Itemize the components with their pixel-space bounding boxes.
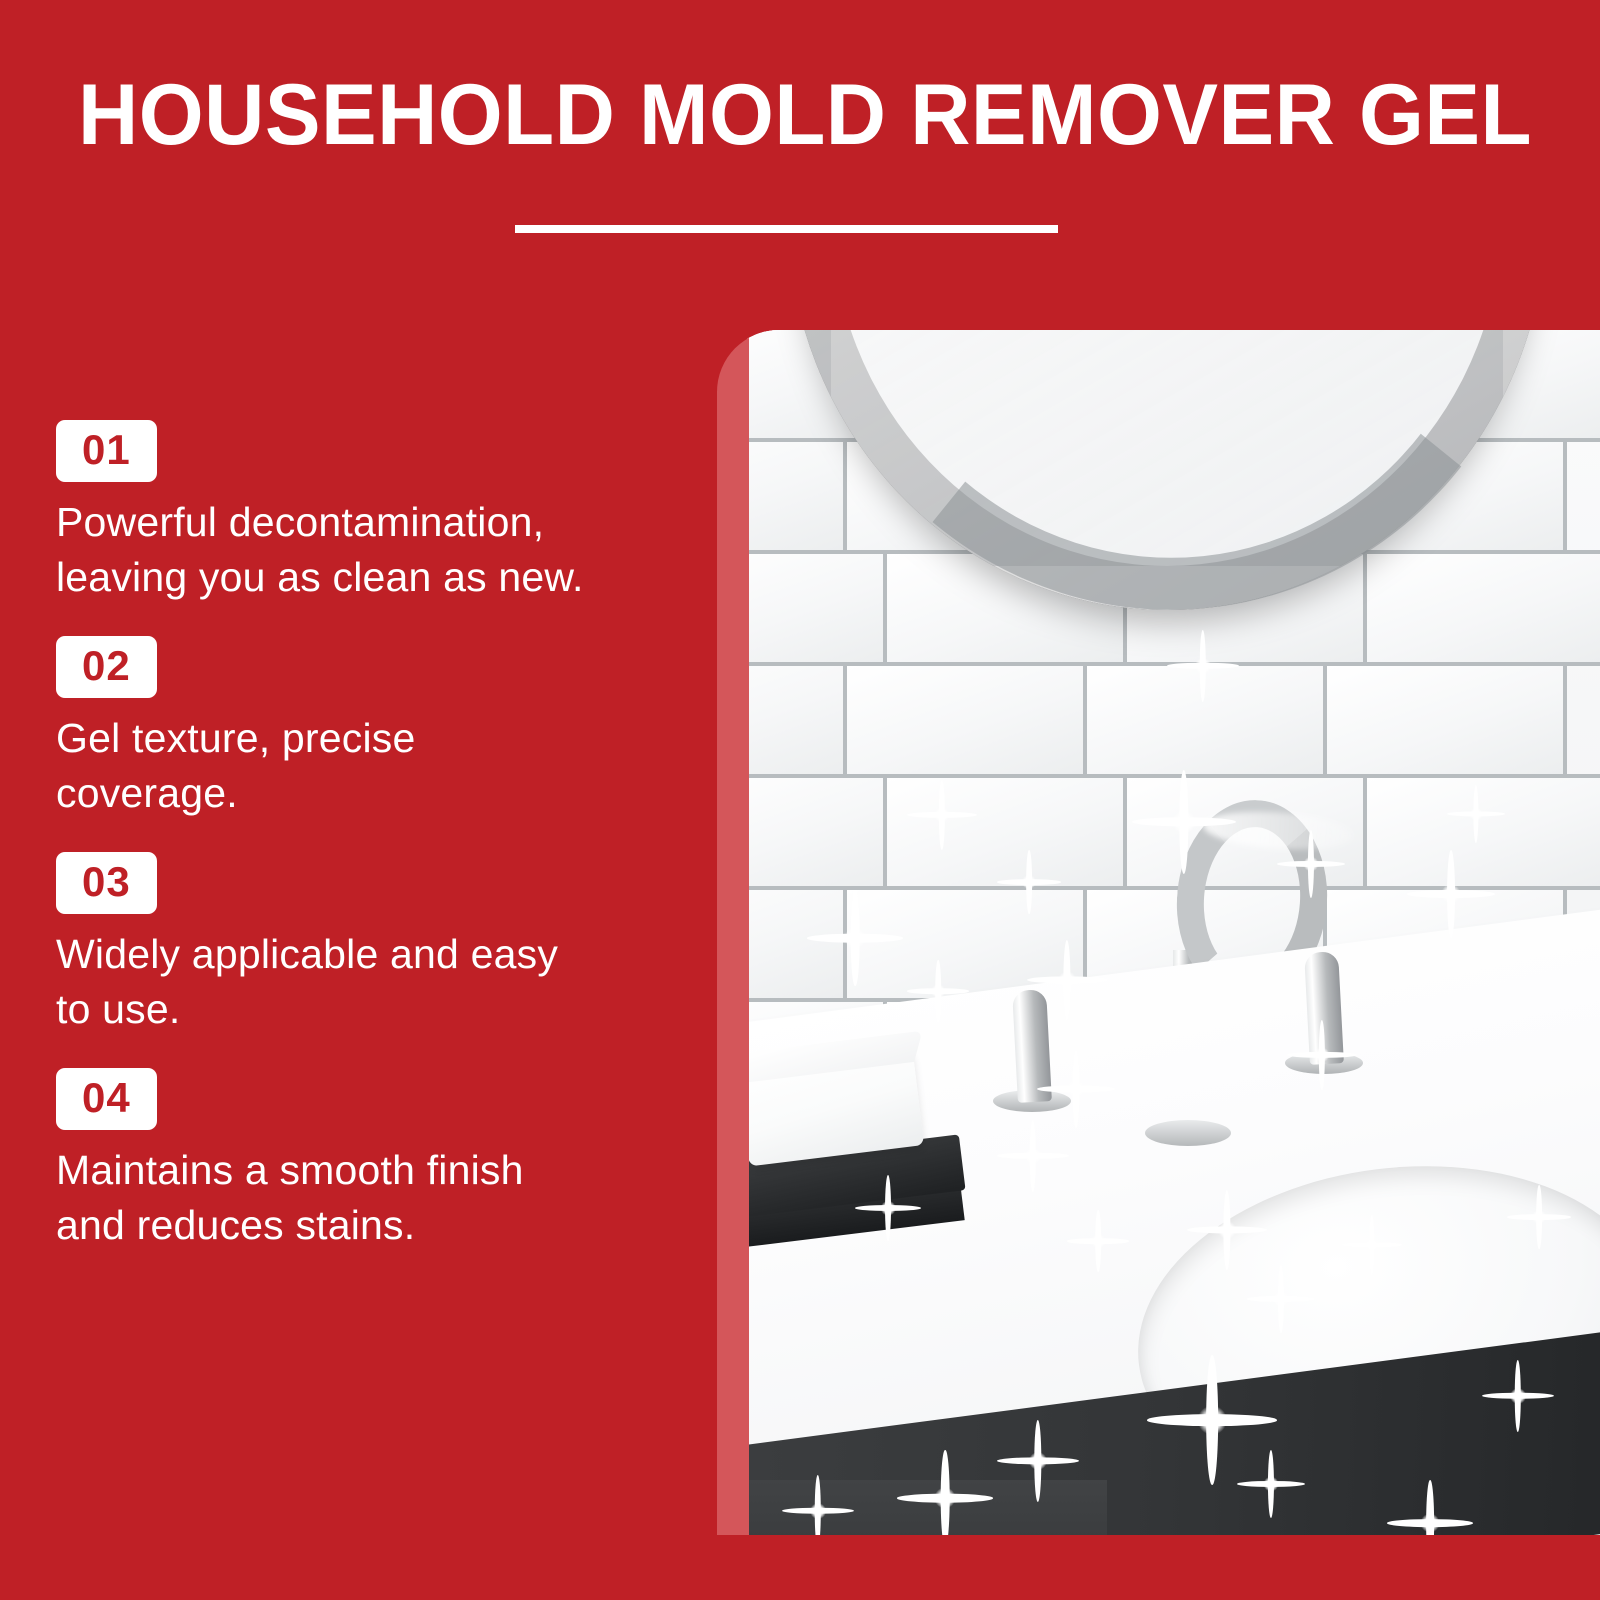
feature-number-badge: 03 (56, 852, 157, 914)
feature-number-badge: 02 (56, 636, 157, 698)
product-photo-panel (717, 330, 1600, 1535)
page-title: HOUSEHOLD MOLD REMOVER GEL (78, 72, 1479, 158)
title-divider (515, 225, 1058, 233)
faucet-base (1145, 1120, 1231, 1146)
list-item: 02 Gel texture, precise coverage. (56, 636, 696, 820)
feature-list: 01 Powerful decontamination, leaving you… (56, 420, 696, 1252)
feature-description: Maintains a smooth finish and reduces st… (56, 1143, 696, 1252)
feature-description: Powerful decontamination, leaving you as… (56, 495, 696, 604)
chrome-faucet-handle-left (1012, 989, 1052, 1103)
list-item: 04 Maintains a smooth finish and reduces… (56, 1068, 696, 1252)
vanity-cabinet-side (747, 1480, 1107, 1535)
chrome-faucet-handle-right (1304, 951, 1344, 1065)
list-item: 01 Powerful decontamination, leaving you… (56, 420, 696, 604)
feature-description: Widely applicable and easy to use. (56, 927, 696, 1036)
list-item: 03 Widely applicable and easy to use. (56, 852, 696, 1036)
feature-number-badge: 01 (56, 420, 157, 482)
bathroom-vanity-photo (747, 330, 1600, 1535)
feature-number-badge: 04 (56, 1068, 157, 1130)
photo-accent-band (717, 330, 749, 1535)
feature-description: Gel texture, precise coverage. (56, 711, 696, 820)
